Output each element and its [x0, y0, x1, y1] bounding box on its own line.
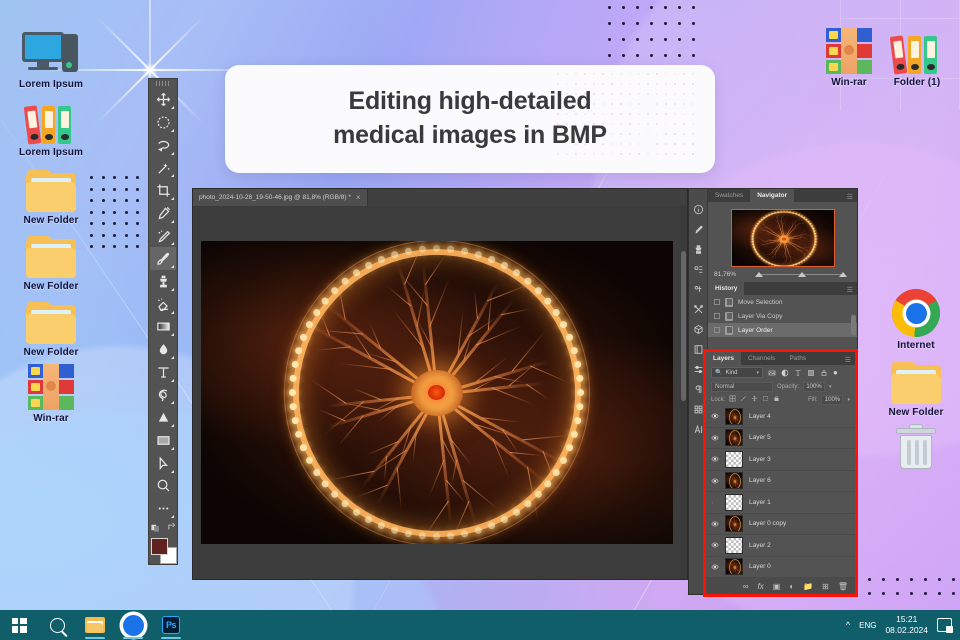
fill-stepper-icon[interactable]: ▾ — [847, 397, 850, 403]
folder-icon — [4, 158, 98, 212]
photoshop-document-window[interactable]: photo_2024-10-28_19-50-46.jpg @ 81,8% (R… — [192, 188, 688, 580]
start-button[interactable] — [0, 610, 38, 640]
info-icon[interactable] — [690, 199, 707, 219]
character-icon[interactable] — [690, 259, 707, 279]
layers-footer[interactable]: ∞ fx ▣ ◐ 📁 ⊞ 🗑 — [706, 578, 855, 594]
neuron-artwork[interactable] — [726, 559, 743, 575]
neuron-artwork[interactable] — [726, 430, 743, 446]
color-swatches[interactable] — [149, 537, 177, 564]
search-icon: 🔍 — [715, 369, 722, 376]
panel-menu-icon[interactable]: ☰ — [847, 193, 853, 201]
panel-menu-icon[interactable]: ☰ — [845, 356, 851, 364]
layers-tab-bar[interactable]: Layers Channels Paths ☰ — [706, 352, 855, 365]
desktop-icon-internet[interactable]: Internet — [869, 283, 960, 351]
document-tab-title: photo_2024-10-28_19-50-46.jpg @ 81,8% (R… — [199, 194, 351, 201]
brush-settings-icon[interactable] — [690, 219, 707, 239]
lock-artboard-icon[interactable] — [762, 395, 769, 404]
neuron-artwork[interactable] — [726, 473, 743, 489]
recycle-bin-icon — [869, 416, 960, 470]
taskbar-items[interactable]: Ps — [0, 610, 190, 640]
layers-lock-row[interactable]: Lock: Fill: 100% ▾ — [706, 393, 855, 406]
system-tray[interactable]: ^ ENG 15:21 08.02.2024 — [846, 614, 960, 635]
layers-panel[interactable]: Layers Channels Paths ☰ 🔍 Kind ▾ ● Norma… — [703, 349, 858, 597]
shape-tool[interactable] — [150, 406, 176, 429]
layer-style-icon[interactable]: fx — [758, 582, 764, 591]
chrome-icon — [124, 616, 142, 634]
path-selection-tool[interactable] — [150, 452, 176, 475]
layer-name[interactable]: Layer 5 — [749, 434, 771, 441]
folder-icon — [4, 224, 98, 278]
layer-row[interactable]: Layer 0 copy — [706, 514, 855, 536]
history-checkbox[interactable] — [714, 299, 720, 305]
smart-object-filter-icon[interactable] — [820, 369, 828, 377]
layer-name[interactable]: Layer 1 — [749, 499, 771, 506]
clock[interactable]: 15:21 08.02.2024 — [885, 614, 928, 635]
navigator-panel[interactable]: 81,76% — [708, 202, 857, 282]
history-item-label: Layer Via Copy — [738, 313, 782, 320]
desktop-icon-computer[interactable]: Lorem Ipsum — [4, 22, 98, 90]
pixel-filter-icon[interactable] — [768, 369, 776, 377]
layers-list[interactable]: Layer 4 Layer 5Layer 3 Layer 6Layer 1 — [706, 406, 855, 578]
history-item-label: Move Selection — [738, 299, 782, 306]
layer-row[interactable]: Layer 6 — [706, 471, 855, 493]
layers-filter-row[interactable]: 🔍 Kind ▾ ● — [706, 365, 855, 380]
neuron-artwork[interactable] — [201, 241, 673, 544]
banner-text: Editing high-detailed medical images in … — [333, 85, 607, 153]
eyedropper-tool[interactable] — [150, 202, 176, 225]
headline-banner: Editing high-detailed medical images in … — [225, 65, 715, 173]
document-canvas[interactable] — [193, 206, 680, 579]
layer-visibility-icon[interactable] — [710, 412, 719, 420]
elliptical-marquee-tool[interactable] — [150, 111, 176, 134]
adjustment-layer-icon[interactable]: ◐ — [789, 582, 794, 591]
layer-thumbnail[interactable] — [725, 515, 743, 532]
lasso-tool[interactable] — [150, 134, 176, 157]
layer-visibility-icon[interactable] — [710, 520, 719, 528]
tab-channels[interactable]: Channels — [741, 352, 782, 365]
zoom-out-icon[interactable] — [755, 272, 763, 277]
tab-history[interactable]: History — [708, 282, 744, 295]
language-indicator[interactable]: ENG — [859, 621, 876, 630]
quick-mask-icon — [150, 522, 161, 533]
paragraph-styles-icon[interactable] — [690, 279, 707, 299]
zoom-slider-handle[interactable] — [798, 272, 806, 277]
layer-kind-select[interactable]: 🔍 Kind ▾ — [711, 367, 763, 378]
layer-row[interactable]: Layer 5 — [706, 428, 855, 450]
neuron-artwork[interactable] — [726, 409, 743, 425]
desktop-icon-new-folder-3[interactable]: New Folder — [4, 290, 98, 358]
layer-visibility-icon[interactable] — [710, 563, 719, 571]
notifications-icon[interactable] — [937, 618, 952, 632]
layer-name[interactable]: Layer 0 — [749, 563, 771, 570]
spot-healing-brush-tool[interactable] — [150, 225, 176, 248]
layer-thumbnail[interactable] — [725, 429, 743, 446]
tab-layers[interactable]: Layers — [706, 352, 741, 365]
layer-visibility-icon[interactable] — [710, 477, 719, 485]
layer-thumbnail[interactable] — [725, 558, 743, 575]
clock-date: 08.02.2024 — [885, 625, 928, 636]
zoom-in-icon[interactable] — [839, 272, 847, 277]
actions-icon[interactable] — [690, 299, 707, 319]
layer-row[interactable]: Layer 0 — [706, 557, 855, 579]
tab-swatches[interactable]: Swatches — [708, 189, 750, 202]
desktop-icon-new-folder-right[interactable]: New Folder — [869, 350, 960, 418]
layer-name[interactable]: Layer 6 — [749, 477, 771, 484]
chrome-button[interactable] — [114, 610, 152, 640]
link-layers-icon[interactable]: ∞ — [743, 582, 749, 591]
move-tool[interactable] — [150, 89, 176, 112]
layer-name[interactable]: Layer 4 — [749, 413, 771, 420]
layer-visibility-icon[interactable] — [710, 455, 719, 463]
neuron-artwork[interactable] — [732, 210, 835, 267]
binders-icon — [4, 90, 98, 144]
zoom-tool[interactable] — [150, 475, 176, 498]
toolbar-grip[interactable] — [156, 81, 170, 86]
layers-blend-row[interactable]: Normal Opacity: 100% ▾ — [706, 380, 855, 393]
shape-filter-icon[interactable] — [807, 369, 815, 377]
history-checkbox[interactable] — [714, 313, 720, 319]
desktop-icon-new-folder-2[interactable]: New Folder — [4, 224, 98, 292]
chevron-up-icon[interactable]: ^ — [846, 620, 850, 630]
binders-icon — [870, 20, 960, 74]
crop-tool[interactable] — [150, 179, 176, 202]
toolbar-mode-icons[interactable] — [150, 522, 177, 533]
desktop-icon-label: Win-rar — [4, 413, 98, 424]
artboard-tool[interactable] — [150, 429, 176, 452]
lock-all-icon[interactable] — [773, 395, 780, 404]
lock-label: Lock: — [711, 397, 725, 403]
layer-row[interactable]: Layer 4 — [706, 406, 855, 428]
desktop-icon-binders[interactable]: Lorem Ipsum — [4, 90, 98, 158]
desktop-icon-folder-1[interactable]: Folder (1) — [870, 20, 960, 88]
layer-kind-label: Kind — [725, 370, 737, 376]
layer-thumbnail[interactable] — [725, 537, 743, 554]
lock-position-icon[interactable] — [751, 395, 758, 404]
history-item[interactable]: Layer Via Copy — [708, 309, 857, 323]
navigator-zoom-slider[interactable] — [749, 271, 851, 278]
filter-toggle-icon[interactable]: ● — [833, 368, 838, 377]
desktop[interactable]: Lorem Ipsum Lorem Ipsum New Folder New F… — [0, 0, 960, 640]
taskbar[interactable]: Ps ^ ENG 15:21 08.02.2024 — [0, 610, 960, 640]
neuron-artwork[interactable] — [726, 516, 743, 532]
winrar-icon — [4, 356, 98, 410]
banner-line-1: Editing high-detailed — [333, 85, 607, 119]
tab-paths[interactable]: Paths — [782, 352, 813, 365]
history-state-icon — [725, 312, 733, 321]
swap-colors-icon — [167, 522, 177, 532]
desktop-icon-new-folder-1[interactable]: New Folder — [4, 158, 98, 226]
lock-image-icon[interactable] — [740, 395, 747, 404]
opacity-value[interactable]: 100% — [803, 382, 825, 392]
foreground-color-swatch[interactable] — [151, 538, 168, 555]
adjustment-filter-icon[interactable] — [781, 369, 789, 377]
clock-time: 15:21 — [885, 614, 928, 625]
history-tab-bar[interactable]: History ☰ — [708, 282, 857, 295]
folder-icon — [869, 350, 960, 404]
navigator-zoom-value[interactable]: 81,76% — [714, 271, 744, 278]
search-icon — [50, 618, 65, 633]
gradient-tool[interactable] — [150, 316, 176, 339]
clone-source-icon[interactable] — [690, 239, 707, 259]
document-tab[interactable]: photo_2024-10-28_19-50-46.jpg @ 81,8% (R… — [193, 189, 368, 206]
desktop-icon-recycle-bin[interactable] — [869, 416, 960, 473]
history-state-icon — [725, 326, 733, 335]
desktop-icon-winrar-left[interactable]: Win-rar — [4, 356, 98, 424]
folder-icon — [4, 290, 98, 344]
layer-name[interactable]: Layer 2 — [749, 542, 771, 549]
desktop-icon-label: Folder (1) — [870, 77, 960, 88]
photoshop-button[interactable]: Ps — [152, 610, 190, 640]
photoshop-toolbar[interactable] — [148, 78, 178, 565]
blend-mode-select[interactable]: Normal — [711, 382, 773, 392]
history-state-icon — [725, 298, 733, 307]
opacity-label: Opacity: — [777, 384, 799, 390]
desktop-icon-label: Lorem Ipsum — [4, 79, 98, 90]
history-item-label: Layer Order — [738, 327, 773, 334]
navigator-thumbnail[interactable] — [731, 209, 835, 267]
file-explorer-button[interactable] — [76, 610, 114, 640]
pen-tool[interactable] — [150, 384, 176, 407]
history-item[interactable]: Move Selection — [708, 295, 857, 309]
lock-transparent-icon[interactable] — [729, 395, 736, 404]
windows-logo-icon — [12, 618, 27, 633]
magic-wand-tool[interactable] — [150, 157, 176, 180]
layer-visibility-icon[interactable] — [710, 498, 719, 506]
edit-toolbar-tool[interactable] — [150, 497, 176, 520]
panel-menu-icon[interactable]: ☰ — [847, 286, 853, 294]
history-item[interactable]: Layer Order — [708, 323, 857, 337]
canvas-vertical-scrollbar[interactable] — [680, 206, 687, 579]
search-button[interactable] — [38, 610, 76, 640]
navigator-zoom-row[interactable]: 81,76% — [708, 267, 857, 282]
layer-thumbnail[interactable] — [725, 408, 743, 425]
fill-value[interactable]: 100% — [821, 395, 843, 405]
opacity-stepper-icon[interactable]: ▾ — [829, 384, 832, 390]
close-icon[interactable]: × — [356, 193, 361, 202]
layer-name[interactable]: Layer 3 — [749, 456, 771, 463]
type-tool[interactable] — [150, 361, 176, 384]
layer-name[interactable]: Layer 0 copy — [749, 520, 786, 527]
layer-row[interactable]: Layer 1 — [706, 492, 855, 514]
clone-stamp-tool[interactable] — [150, 270, 176, 293]
history-checkbox[interactable] — [714, 327, 720, 333]
3d-icon[interactable] — [690, 319, 707, 339]
blur-tool[interactable] — [150, 338, 176, 361]
layer-visibility-icon[interactable] — [710, 434, 719, 442]
chevron-down-icon[interactable]: ▾ — [756, 370, 759, 376]
eraser-tool[interactable] — [150, 293, 176, 316]
layer-thumbnail[interactable] — [725, 472, 743, 489]
fill-label: Fill: — [808, 397, 817, 403]
document-tab-bar[interactable]: photo_2024-10-28_19-50-46.jpg @ 81,8% (R… — [193, 189, 687, 206]
layer-row[interactable]: Layer 3 — [706, 449, 855, 471]
layer-row[interactable]: Layer 2 — [706, 535, 855, 557]
banner-line-2: medical images in BMP — [333, 119, 607, 153]
photoshop-icon: Ps — [162, 616, 180, 634]
layer-thumbnail[interactable] — [725, 451, 743, 468]
desktop-icon-label: Lorem Ipsum — [4, 147, 98, 158]
tab-navigator[interactable]: Navigator — [750, 189, 794, 202]
navigator-tab-bar[interactable]: Swatches Navigator ☰ — [708, 189, 857, 202]
chrome-icon — [869, 283, 960, 337]
layer-mask-icon[interactable]: ▣ — [773, 582, 781, 591]
type-filter-icon[interactable] — [794, 369, 802, 377]
new-layer-icon[interactable]: ⊞ — [822, 582, 829, 591]
explorer-icon — [85, 617, 105, 633]
brush-tool[interactable] — [150, 247, 176, 270]
delete-layer-icon[interactable]: 🗑 — [838, 582, 848, 591]
layer-visibility-icon[interactable] — [710, 541, 719, 549]
layer-thumbnail[interactable] — [725, 494, 743, 511]
new-group-icon[interactable]: 📁 — [803, 582, 813, 591]
computer-icon — [4, 22, 98, 76]
